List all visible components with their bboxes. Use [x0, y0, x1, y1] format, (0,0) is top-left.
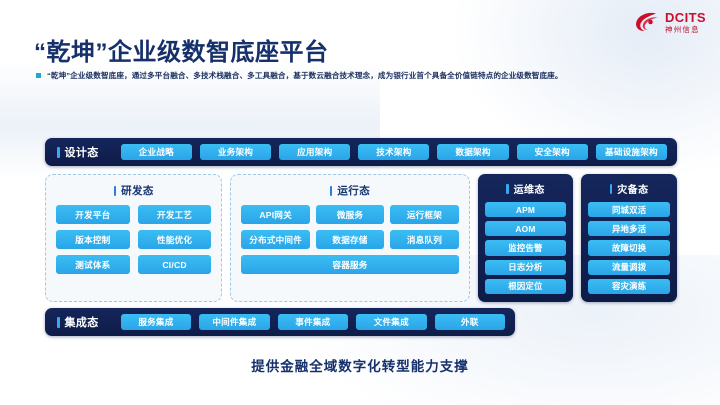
footer-caption: 提供金融全域数字化转型能力支撑 — [0, 355, 720, 375]
dr-chip[interactable]: 异地多活 — [588, 221, 670, 236]
ops-chip[interactable]: 日志分析 — [485, 260, 567, 275]
runtime-state-title-group: 运行态 — [241, 183, 458, 198]
dev-state-title: 研发态 — [121, 183, 154, 198]
design-chip[interactable]: 基础设施架构 — [596, 144, 667, 160]
integration-chip[interactable]: 中间件集成 — [199, 314, 269, 330]
subtitle-row: “乾坤”企业级数智底座，通过多平台融合、多技术栈融合、多工具融合，基于数云融合技… — [36, 70, 563, 81]
runtime-chip[interactable]: API网关 — [241, 205, 309, 224]
dev-chip-grid: 开发平台 开发工艺 版本控制 性能优化 测试体系 CI/CD — [56, 205, 211, 274]
dr-chip-list: 同城双活 异地多活 故障切换 流量调拨 容灾演练 — [588, 202, 670, 294]
dev-chip[interactable]: 性能优化 — [138, 230, 212, 249]
dev-state-panel: 研发态 开发平台 开发工艺 版本控制 性能优化 测试体系 CI/CD — [45, 174, 222, 302]
runtime-chip-grid: API网关 微服务 运行框架 分布式中间件 数据存储 消息队列 — [241, 205, 458, 249]
accent-bar-icon — [57, 317, 60, 328]
design-state-bar: 设计态 企业战略 业务架构 应用架构 技术架构 数据架构 安全架构 基础设施架构 — [45, 138, 677, 166]
dr-state-title: 灾备态 — [617, 181, 648, 196]
runtime-chip[interactable]: 分布式中间件 — [241, 230, 309, 249]
architecture-diagram: 设计态 企业战略 业务架构 应用架构 技术架构 数据架构 安全架构 基础设施架构… — [45, 138, 677, 338]
logo-text-cn: 神州信息 — [665, 26, 706, 34]
dr-chip[interactable]: 同城双活 — [588, 202, 670, 217]
slide-root: DCITS 神州信息 “乾坤”企业级数智底座平台 “乾坤”企业级数智底座，通过多… — [0, 0, 720, 405]
ops-state-title-group: 运维态 — [485, 181, 567, 196]
ops-chip[interactable]: APM — [485, 202, 567, 217]
runtime-chip[interactable]: 运行框架 — [390, 205, 458, 224]
ops-chip[interactable]: 监控告警 — [485, 240, 567, 255]
ops-chip[interactable]: AOM — [485, 221, 567, 236]
page-subtitle: “乾坤”企业级数智底座，通过多平台融合、多技术栈融合、多工具融合，基于数云融合技… — [47, 70, 563, 81]
design-state-label: 设计态 — [65, 144, 99, 160]
dev-chip[interactable]: 开发工艺 — [138, 205, 212, 224]
square-bullet-icon — [36, 73, 41, 78]
design-chip[interactable]: 数据架构 — [437, 144, 508, 160]
middle-row: 研发态 开发平台 开发工艺 版本控制 性能优化 测试体系 CI/CD 运行态 A — [45, 174, 677, 302]
ops-chip[interactable]: 根因定位 — [485, 279, 567, 294]
runtime-state-panel: 运行态 API网关 微服务 运行框架 分布式中间件 数据存储 消息队列 容器服务 — [230, 174, 469, 302]
dev-chip[interactable]: 测试体系 — [56, 255, 130, 274]
integration-chip[interactable]: 服务集成 — [121, 314, 191, 330]
dr-state-title-group: 灾备态 — [588, 181, 670, 196]
dr-chip[interactable]: 容灾演练 — [588, 279, 670, 294]
accent-bar-icon — [610, 184, 613, 194]
dr-state-panel: 灾备态 同城双活 异地多活 故障切换 流量调拨 容灾演练 — [581, 174, 677, 302]
design-state-label-group: 设计态 — [45, 144, 113, 160]
swirl-icon — [634, 11, 660, 33]
integration-chip[interactable]: 外联 — [435, 314, 505, 330]
integration-chip[interactable]: 文件集成 — [356, 314, 426, 330]
dev-chip[interactable]: CI/CD — [138, 255, 212, 274]
ops-state-title: 运维态 — [514, 181, 545, 196]
accent-bar-icon — [506, 184, 509, 194]
integration-chip[interactable]: 事件集成 — [278, 314, 348, 330]
integration-state-label-group: 集成态 — [45, 314, 113, 330]
runtime-chip[interactable]: 消息队列 — [390, 230, 458, 249]
integration-state-label: 集成态 — [65, 314, 99, 330]
runtime-chip[interactable]: 微服务 — [316, 205, 384, 224]
dev-chip[interactable]: 版本控制 — [56, 230, 130, 249]
ops-state-panel: 运维态 APM AOM 监控告警 日志分析 根因定位 — [478, 174, 574, 302]
page-title: “乾坤”企业级数智底座平台 — [34, 32, 329, 67]
brand-logo: DCITS 神州信息 — [634, 11, 706, 34]
accent-bar-icon — [330, 186, 333, 196]
runtime-chip-container-service[interactable]: 容器服务 — [241, 255, 458, 274]
dev-state-title-group: 研发态 — [56, 183, 211, 198]
dr-chip[interactable]: 故障切换 — [588, 240, 670, 255]
design-chip[interactable]: 安全架构 — [517, 144, 588, 160]
design-chip[interactable]: 技术架构 — [358, 144, 429, 160]
logo-text-en: DCITS — [665, 11, 706, 24]
runtime-chip[interactable]: 数据存储 — [316, 230, 384, 249]
accent-bar-icon — [57, 147, 60, 158]
accent-bar-icon — [114, 186, 117, 196]
integration-state-bar: 集成态 服务集成 中间件集成 事件集成 文件集成 外联 — [45, 308, 515, 336]
design-chip[interactable]: 业务架构 — [200, 144, 271, 160]
runtime-state-title: 运行态 — [337, 183, 370, 198]
dev-chip[interactable]: 开发平台 — [56, 205, 130, 224]
design-chip[interactable]: 应用架构 — [279, 144, 350, 160]
ops-chip-list: APM AOM 监控告警 日志分析 根因定位 — [485, 202, 567, 294]
design-chip[interactable]: 企业战略 — [121, 144, 192, 160]
dr-chip[interactable]: 流量调拨 — [588, 260, 670, 275]
